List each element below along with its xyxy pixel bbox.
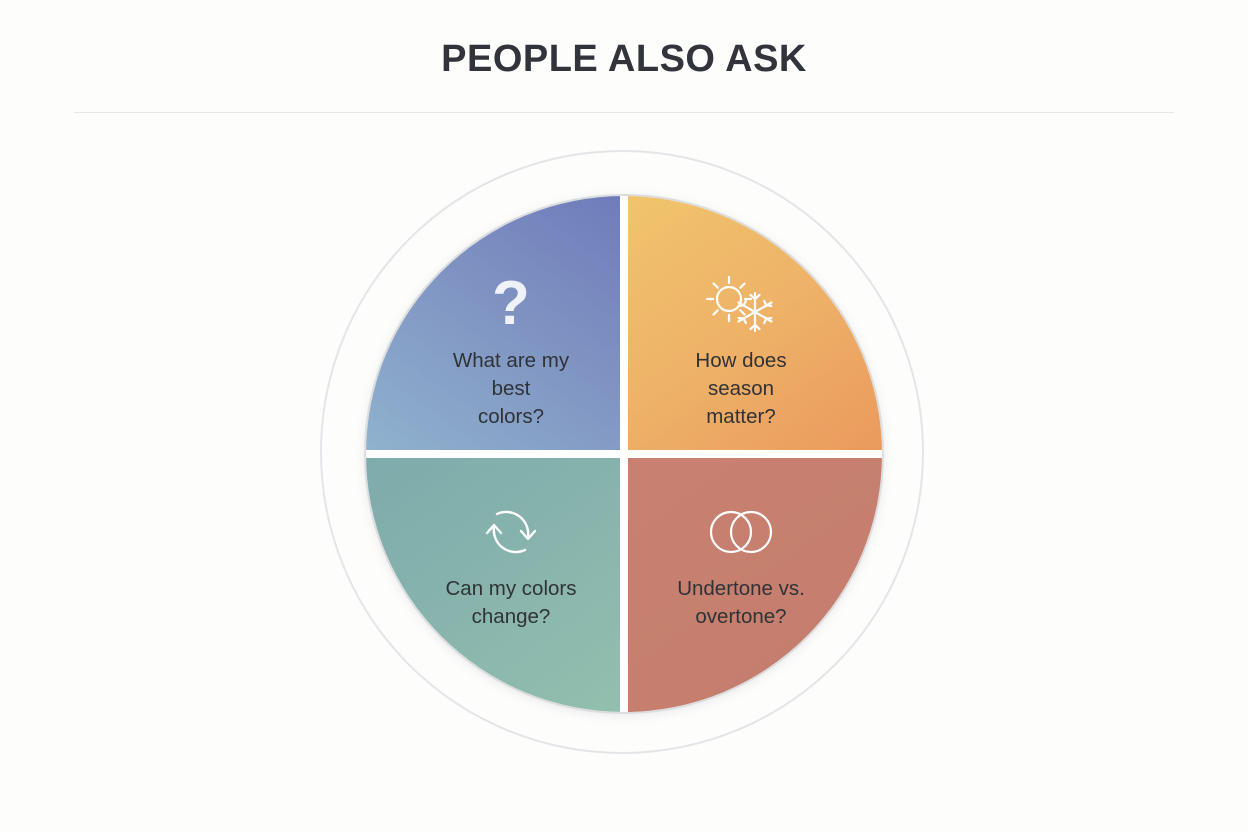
quadrant-label: Undertone vs. overtone? [663,575,819,631]
question-mark-icon: ? [492,273,530,335]
quadrant-label: What are my best colors? [439,347,583,431]
quadrant-undertone-overtone[interactable]: Undertone vs. overtone? [628,458,882,712]
icon-slot: ? [492,267,530,341]
page-title: PEOPLE ALSO ASK [0,38,1248,81]
icon-slot [475,495,547,569]
quadrant-content: How does season matter? [681,267,800,431]
quadrant-best-colors[interactable]: ? What are my best colors? [366,196,620,450]
quadrant-label: Can my colors change? [431,575,590,631]
quadrant-season-matter[interactable]: How does season matter? [628,196,882,450]
icon-slot [701,495,781,569]
question-wheel: ? What are my best colors? [320,150,928,758]
sun-snowflake-icon [699,272,783,336]
header: PEOPLE ALSO ASK [0,0,1248,114]
quadrant-content: Undertone vs. overtone? [663,495,819,631]
refresh-cycle-icon [475,499,547,565]
quadrant-divider-horizontal [366,450,884,458]
quadrant-wheel: ? What are my best colors? [364,194,884,714]
overlapping-circles-icon [701,503,781,561]
quadrant-content: Can my colors change? [431,495,590,631]
icon-slot [699,267,783,341]
title-divider [74,112,1174,113]
quadrant-colors-change[interactable]: Can my colors change? [366,458,620,712]
infographic-page: PEOPLE ALSO ASK ? What are my best color… [0,0,1248,832]
quadrant-content: ? What are my best colors? [439,267,583,431]
quadrant-label: How does season matter? [681,347,800,431]
